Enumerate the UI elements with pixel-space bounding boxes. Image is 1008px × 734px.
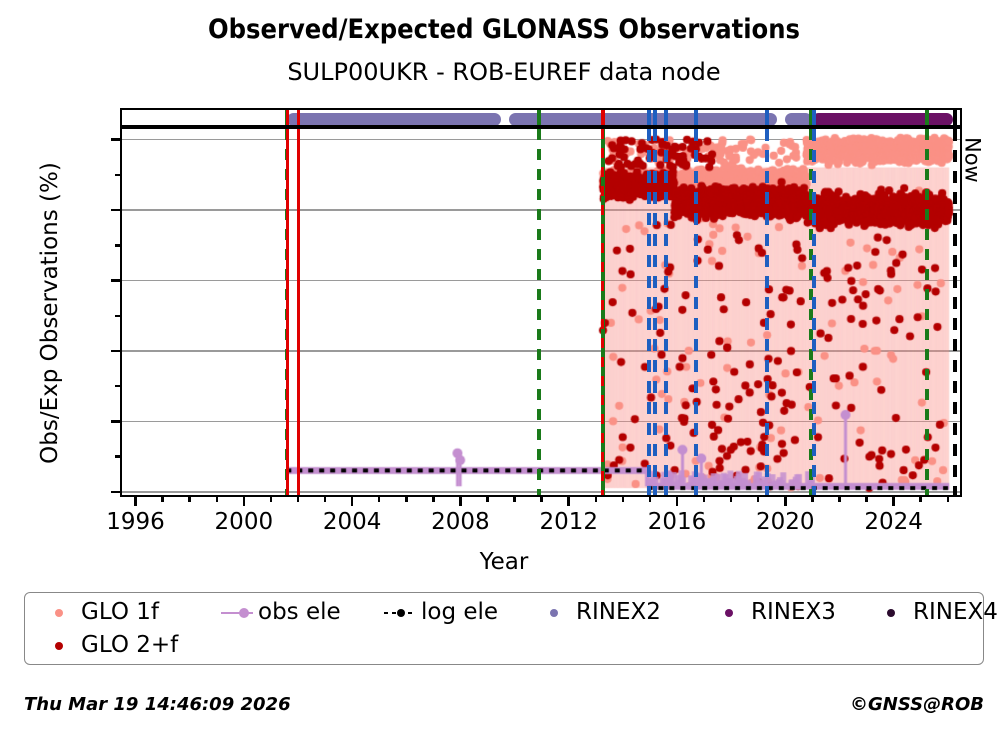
x-tick-minor-2010 <box>513 495 516 502</box>
legend-marker-icon <box>875 603 909 621</box>
legend-marker-icon <box>43 603 77 621</box>
strip-event-line-2 <box>297 110 300 127</box>
event-line-red-solid-1 <box>286 129 289 495</box>
legend-label: RINEX4 <box>913 599 998 625</box>
x-tick-minor-2001 <box>270 495 273 502</box>
event-line-now-line-14 <box>953 129 957 495</box>
legend-item-rinex3[interactable]: RINEX3 <box>713 595 836 629</box>
plot-clip <box>122 129 960 495</box>
event-line-blue-dashed-7 <box>653 129 657 495</box>
x-tick-minor-2015 <box>649 495 652 502</box>
legend-item-obs-ele[interactable]: obs ele <box>220 595 341 629</box>
strip-event-line-6 <box>647 110 651 127</box>
x-tick-minor-2014 <box>622 495 625 502</box>
strip-event-line-12 <box>812 110 816 127</box>
y-tick-minor-50 <box>115 315 122 318</box>
y-tick-minor-10 <box>115 455 122 458</box>
legend-item-log-ele[interactable]: log ele <box>383 595 498 629</box>
chart-page: Observed/Expected GLONASS Observations S… <box>0 0 1008 734</box>
legend-dot-icon <box>397 609 405 617</box>
x-tick-2008 <box>459 495 462 506</box>
y-tick-0 <box>111 491 122 494</box>
x-tick-label-2012: 2012 <box>509 509 629 535</box>
footer-copyright: ©GNSS@ROB <box>850 694 984 715</box>
legend-dot-icon <box>725 609 733 617</box>
x-tick-minor-2002 <box>297 495 300 502</box>
y-axis-label: Obs/Exp Observations (%) <box>37 113 63 513</box>
strip-event-line-8 <box>664 110 668 127</box>
y-tick-60 <box>111 279 122 282</box>
strip-event-line-13 <box>925 110 929 127</box>
x-tick-label-2024: 2024 <box>834 509 954 535</box>
x-tick-label-2004: 2004 <box>292 509 412 535</box>
event-line-green-dashed-3 <box>537 129 541 495</box>
legend-item-glo-2-f[interactable]: GLO 2+f <box>43 628 178 662</box>
legend-dot-icon <box>550 609 558 617</box>
plot-area: 020406080100 199620002004200820122016202… <box>120 127 962 497</box>
legend-marker-icon <box>713 603 747 621</box>
x-tick-minor-2021 <box>811 495 814 502</box>
rinex-bar-rinex2-1 <box>509 113 777 126</box>
event-line-red-solid-2 <box>297 129 300 495</box>
x-tick-minor-2026 <box>947 495 950 502</box>
x-tick-label-2000: 2000 <box>184 509 304 535</box>
x-tick-minor-1999 <box>216 495 219 502</box>
legend-label: GLO 2+f <box>81 632 178 658</box>
page-subtitle: SULP00UKR - ROB-EUREF data node <box>0 58 1008 86</box>
strip-event-line-14 <box>953 110 957 127</box>
strip-event-line-9 <box>694 110 698 127</box>
x-tick-minor-2013 <box>595 495 598 502</box>
x-tick-2012 <box>567 495 570 506</box>
page-title: Observed/Expected GLONASS Observations <box>0 14 1008 45</box>
x-tick-minor-1997 <box>161 495 164 502</box>
event-line-blue-dashed-10 <box>765 129 769 495</box>
x-tick-minor-2018 <box>730 495 733 502</box>
legend-label: obs ele <box>258 599 341 625</box>
y-tick-20 <box>111 420 122 423</box>
event-line-red-dashed-5 <box>601 129 604 495</box>
legend-marker-icon <box>383 603 417 621</box>
event-line-blue-dashed-9 <box>694 129 698 495</box>
x-tick-minor-2011 <box>540 495 543 502</box>
legend-label: RINEX2 <box>576 599 661 625</box>
x-tick-2000 <box>243 495 246 506</box>
y-tick-40 <box>111 350 122 353</box>
strip-event-line-7 <box>653 110 657 127</box>
legend-item-glo-1f[interactable]: GLO 1f <box>43 595 159 629</box>
y-tick-minor-30 <box>115 385 122 388</box>
rinex-availability-strip <box>120 108 962 127</box>
x-tick-minor-2019 <box>757 495 760 502</box>
legend-label: log ele <box>421 599 498 625</box>
legend-item-rinex2[interactable]: RINEX2 <box>538 595 661 629</box>
x-tick-minor-2003 <box>324 495 327 502</box>
rinex-bar-rinex2-0 <box>287 113 501 126</box>
legend-label: RINEX3 <box>751 599 836 625</box>
x-tick-label-2020: 2020 <box>725 509 845 535</box>
x-axis-label: Year <box>0 549 1008 575</box>
y-tick-minor-70 <box>115 244 122 247</box>
strip-event-line-3 <box>537 110 541 127</box>
x-tick-2016 <box>676 495 679 506</box>
x-tick-minor-1998 <box>188 495 191 502</box>
strip-event-line-10 <box>765 110 769 127</box>
legend-item-rinex4[interactable]: RINEX4 <box>875 595 998 629</box>
event-line-blue-dashed-6 <box>647 129 651 495</box>
legend-marker-icon <box>43 636 77 654</box>
x-tick-minor-2023 <box>865 495 868 502</box>
y-tick-80 <box>111 209 122 212</box>
strip-event-line-5 <box>601 110 605 127</box>
x-tick-minor-2006 <box>405 495 408 502</box>
x-tick-minor-2017 <box>703 495 706 502</box>
legend-dot-icon <box>55 609 63 617</box>
legend-label: GLO 1f <box>81 599 159 625</box>
y-tick-minor-90 <box>115 174 122 177</box>
legend-dot-icon <box>239 608 249 618</box>
x-tick-label-1996: 1996 <box>76 509 196 535</box>
footer-timestamp: Thu Mar 19 14:46:09 2026 <box>24 694 291 715</box>
y-tick-100 <box>111 138 122 141</box>
legend-marker-icon <box>220 603 254 621</box>
x-tick-minor-2009 <box>486 495 489 502</box>
x-tick-minor-2007 <box>432 495 435 502</box>
x-tick-label-2016: 2016 <box>617 509 737 535</box>
event-line-blue-dashed-12 <box>812 129 816 495</box>
x-tick-1996 <box>134 495 137 506</box>
event-line-blue-dashed-8 <box>664 129 668 495</box>
x-tick-minor-2022 <box>838 495 841 502</box>
x-tick-minor-2005 <box>378 495 381 502</box>
legend-marker-icon <box>538 603 572 621</box>
strip-event-line-1 <box>286 110 289 127</box>
legend-dot-icon <box>55 642 63 650</box>
event-line-green-dashed-13 <box>925 129 929 495</box>
x-tick-2020 <box>784 495 787 506</box>
now-label: Now <box>961 137 985 183</box>
x-tick-2004 <box>351 495 354 506</box>
x-tick-minor-2025 <box>919 495 922 502</box>
x-tick-label-2008: 2008 <box>400 509 520 535</box>
legend-dot-icon <box>887 609 895 617</box>
x-tick-2024 <box>892 495 895 506</box>
legend: GLO 1fobs elelog eleRINEX2RINEX3RINEX4GL… <box>24 592 984 665</box>
rinex-bar-rinex3-0 <box>812 113 953 126</box>
